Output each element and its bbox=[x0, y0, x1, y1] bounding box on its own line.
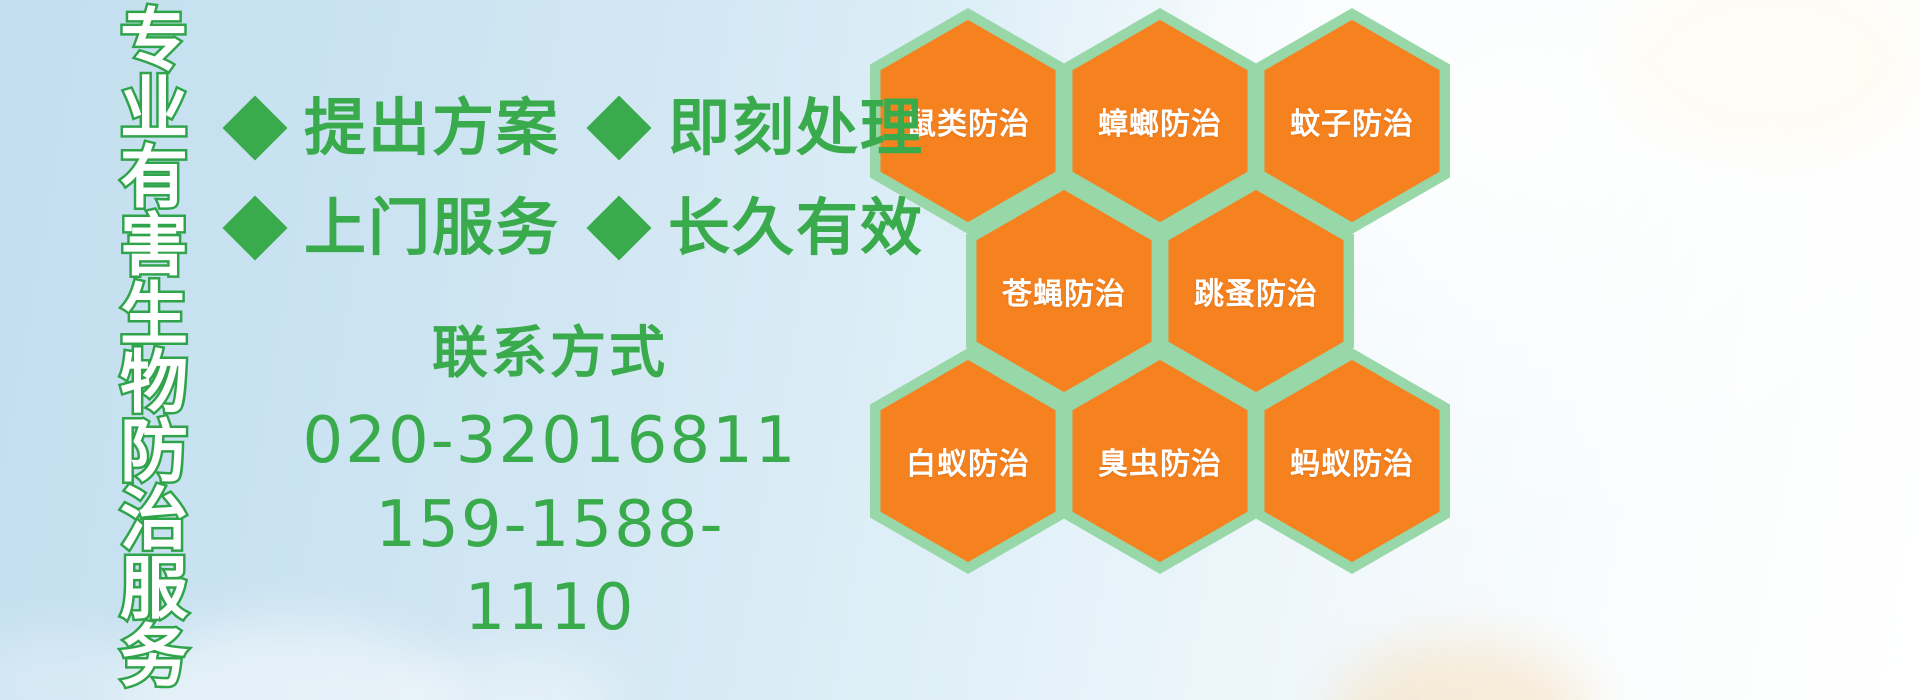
vertical-title-char: 害 bbox=[120, 213, 188, 281]
vertical-title-char: 务 bbox=[120, 624, 188, 692]
background-blur-blob bbox=[400, 648, 620, 700]
vertical-title-char: 专 bbox=[120, 8, 188, 76]
diamond-icon bbox=[222, 195, 287, 260]
contact-heading: 联系方式 bbox=[300, 322, 800, 386]
service-hex-label: 白蚁防治 bbox=[870, 348, 1066, 574]
vertical-title-char: 治 bbox=[120, 487, 188, 555]
background-blur-blob bbox=[1620, 0, 1920, 150]
vertical-title-char: 物 bbox=[120, 350, 188, 418]
service-hex-label: 蚂蚁防治 bbox=[1254, 348, 1450, 574]
feature-item: 提出方案 bbox=[232, 97, 560, 159]
vertical-title-char: 业 bbox=[120, 76, 188, 144]
feature-row: 上门服务 长久有效 bbox=[232, 178, 924, 278]
contact-block: 联系方式 020-32016811 159-1588-1110 bbox=[300, 322, 800, 650]
pest-control-banner: 专 业 有 害 生 物 防 治 服 务 提出方案 即刻处理 上门服务 bbox=[0, 0, 1920, 700]
feature-list: 提出方案 即刻处理 上门服务 长久有效 bbox=[232, 78, 924, 278]
diamond-icon bbox=[586, 95, 651, 160]
service-hex-label: 臭虫防治 bbox=[1062, 348, 1258, 574]
feature-item: 上门服务 bbox=[232, 197, 560, 259]
service-hex-bedbug[interactable]: 臭虫防治 bbox=[1062, 348, 1258, 574]
vertical-title-char: 服 bbox=[120, 556, 188, 624]
feature-label: 长久有效 bbox=[668, 197, 924, 259]
phone-number-landline[interactable]: 020-32016811 bbox=[300, 400, 800, 483]
service-honeycomb: 鼠类防治 蟑螂防治 蚊子防治 苍蝇防治 跳蚤防治 白蚁防治 bbox=[862, 0, 1462, 700]
phone-number-mobile[interactable]: 159-1588-1110 bbox=[300, 484, 800, 650]
feature-label: 即刻处理 bbox=[668, 97, 924, 159]
diamond-icon bbox=[586, 195, 651, 260]
feature-row: 提出方案 即刻处理 bbox=[232, 78, 924, 178]
vertical-title-char: 防 bbox=[120, 419, 188, 487]
feature-label: 提出方案 bbox=[304, 97, 560, 159]
feature-item: 即刻处理 bbox=[596, 97, 924, 159]
service-hex-ant[interactable]: 蚂蚁防治 bbox=[1254, 348, 1450, 574]
feature-item: 长久有效 bbox=[596, 197, 924, 259]
vertical-title-char: 生 bbox=[120, 282, 188, 350]
feature-label: 上门服务 bbox=[304, 197, 560, 259]
diamond-icon bbox=[222, 95, 287, 160]
vertical-title-char: 有 bbox=[120, 145, 188, 213]
vertical-title: 专 业 有 害 生 物 防 治 服 务 bbox=[108, 8, 200, 692]
service-hex-termite[interactable]: 白蚁防治 bbox=[870, 348, 1066, 574]
